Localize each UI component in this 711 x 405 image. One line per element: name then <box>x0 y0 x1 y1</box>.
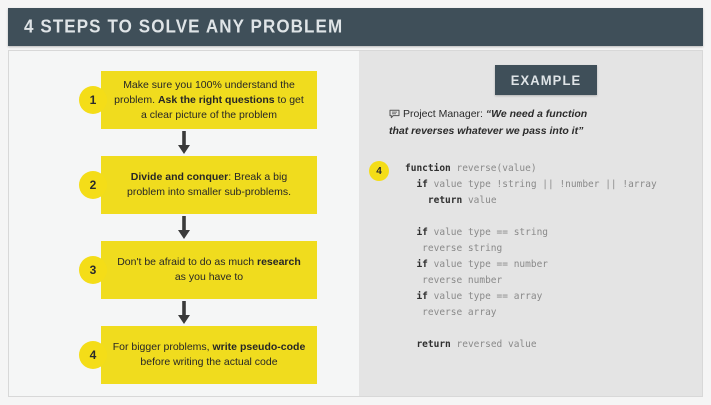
step-connector <box>9 214 359 241</box>
speaker-label: Project Manager: <box>403 108 483 120</box>
code-line: if value type == string <box>405 225 705 241</box>
code-line: reverse number <box>405 273 705 289</box>
step-number-badge: 2 <box>79 171 107 199</box>
code-blank-line <box>405 321 705 337</box>
step-text: For bigger problems, write pseudo-code b… <box>111 340 307 370</box>
steps-list: Make sure you 100% understand the proble… <box>9 71 359 384</box>
example-panel: EXAMPLE Project Manager: “We need a func… <box>359 51 702 396</box>
infographic-card: 4 STEPS TO SOLVE ANY PROBLEM Make sure y… <box>0 0 711 405</box>
project-manager-quote: Project Manager: “We need a function tha… <box>389 107 679 139</box>
step-text: Divide and conquer: Break a big problem … <box>111 170 307 200</box>
page-title: 4 STEPS TO SOLVE ANY PROBLEM <box>8 16 343 38</box>
pseudo-code-block: 4 function reverse(value) if value type … <box>405 161 705 353</box>
quote-line-1-text: “We need a function <box>486 108 587 120</box>
code-line: reverse string <box>405 241 705 257</box>
step-connector <box>9 299 359 326</box>
step-row[interactable]: Make sure you 100% understand the proble… <box>39 71 329 129</box>
code-line: function reverse(value) <box>405 161 705 177</box>
step-box[interactable]: For bigger problems, write pseudo-code b… <box>101 326 317 384</box>
step-number-badge: 4 <box>79 341 107 369</box>
step-box[interactable]: Don't be afraid to do as much research a… <box>101 241 317 299</box>
arrow-down-icon <box>173 301 195 325</box>
body-area: Make sure you 100% understand the proble… <box>8 50 703 397</box>
code-line: return value <box>405 193 705 209</box>
step-row[interactable]: Divide and conquer: Break a big problem … <box>39 156 329 214</box>
code-line: if value type == array <box>405 289 705 305</box>
speech-bubble-icon <box>389 109 400 124</box>
header-bar: 4 STEPS TO SOLVE ANY PROBLEM <box>8 8 703 46</box>
example-badge-label: EXAMPLE <box>511 72 582 88</box>
code-line: reverse array <box>405 305 705 321</box>
quote-line-2-text: that reverses whatever we pass into it” <box>389 124 679 139</box>
step-box[interactable]: Make sure you 100% understand the proble… <box>101 71 317 129</box>
code-line: if value type == number <box>405 257 705 273</box>
step-connector <box>9 129 359 156</box>
code-line: return reversed value <box>405 337 705 353</box>
step-box[interactable]: Divide and conquer: Break a big problem … <box>101 156 317 214</box>
steps-panel: Make sure you 100% understand the proble… <box>9 51 359 396</box>
code-line: if value type !string || !number || !arr… <box>405 177 705 193</box>
step-text: Make sure you 100% understand the proble… <box>111 78 307 123</box>
step-row[interactable]: Don't be afraid to do as much research a… <box>39 241 329 299</box>
arrow-down-icon <box>173 216 195 240</box>
arrow-down-icon <box>173 131 195 155</box>
step-number-badge: 3 <box>79 256 107 284</box>
quote-first-line: Project Manager: “We need a function <box>389 107 679 124</box>
step-row[interactable]: For bigger problems, write pseudo-code b… <box>39 326 329 384</box>
code-step-badge: 4 <box>369 161 389 181</box>
example-badge: EXAMPLE <box>495 65 597 95</box>
code-lines: function reverse(value) if value type !s… <box>405 161 705 353</box>
code-blank-line <box>405 209 705 225</box>
step-number-badge: 1 <box>79 86 107 114</box>
step-text: Don't be afraid to do as much research a… <box>111 255 307 285</box>
